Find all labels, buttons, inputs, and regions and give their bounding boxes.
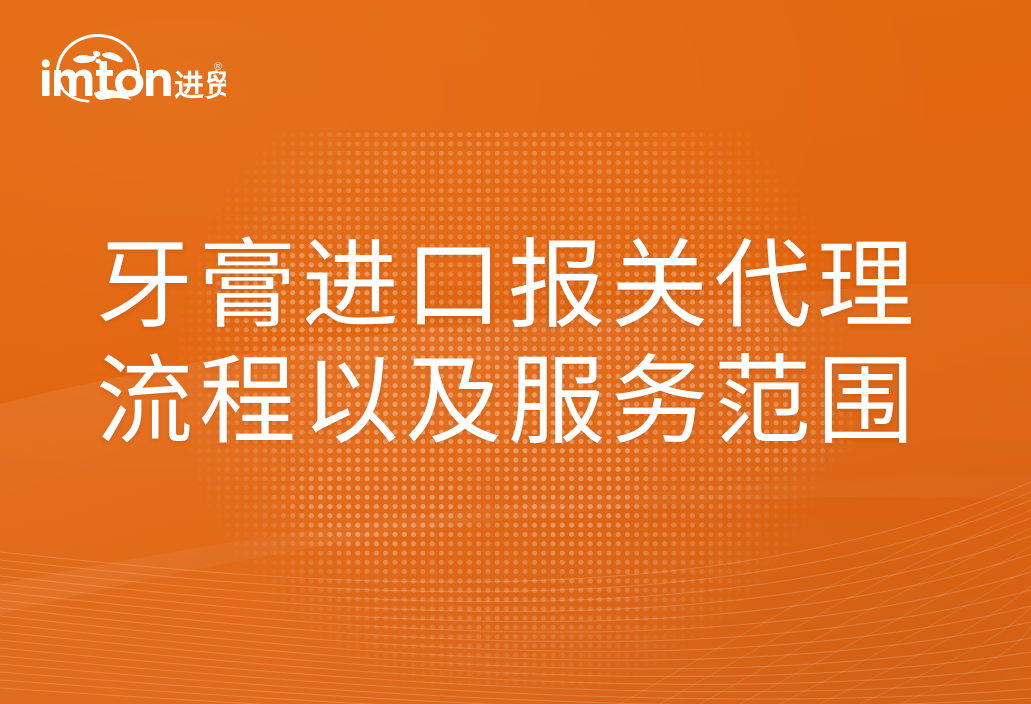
headline-line-1: 牙膏进口报关代理 bbox=[96, 229, 956, 345]
imton-wordmark bbox=[42, 59, 171, 96]
headline-line-2: 流程以及服务范围 bbox=[96, 345, 956, 461]
promo-banner: 进贸通 ® 牙膏进口报关代理 流程以及服务范围 bbox=[0, 0, 1031, 704]
chinese-brand-text: 进贸通 bbox=[174, 70, 226, 103]
line-fan-decoration bbox=[0, 474, 1031, 704]
imton-logo-icon: 进贸通 ® bbox=[36, 26, 226, 104]
registered-trademark-icon: ® bbox=[214, 61, 222, 73]
chinese-wordmark: 进贸通 ® bbox=[174, 61, 226, 103]
headline-block: 牙膏进口报关代理 流程以及服务范围 bbox=[96, 229, 956, 461]
brand-logo[interactable]: 进贸通 ® bbox=[36, 26, 226, 104]
